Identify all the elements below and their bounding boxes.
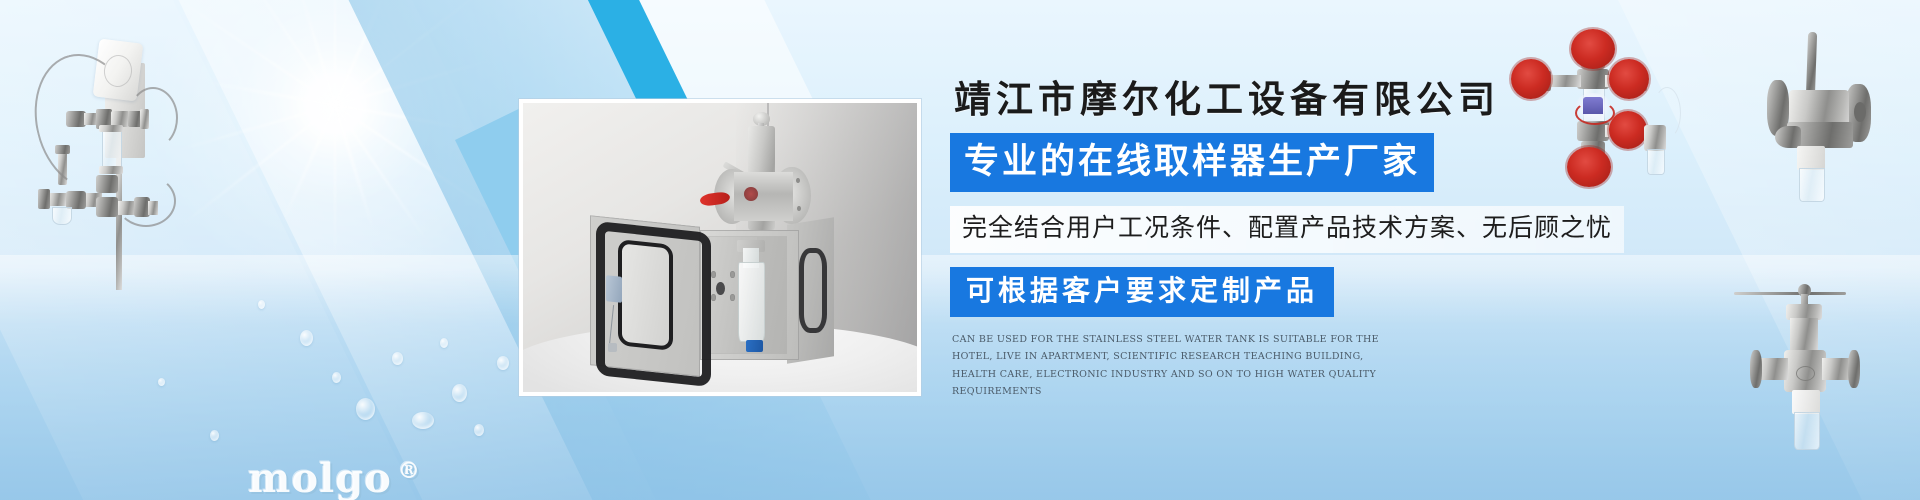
water-droplet-icon <box>332 372 341 383</box>
water-droplet-icon <box>258 300 265 309</box>
company-name: 靖江市摩尔化工设备有限公司 <box>954 78 1590 121</box>
water-droplet-icon <box>452 384 467 402</box>
promo-banner: 靖江市摩尔化工设备有限公司 专业的在线取样器生产厂家 完全结合用户工况条件、配置… <box>0 0 1920 500</box>
water-droplet-icon <box>158 378 165 386</box>
right-equipment-flanged-valve-image <box>1745 28 1905 228</box>
brand-emblem-icon <box>744 187 758 201</box>
water-droplet-icon <box>210 430 219 441</box>
registered-trademark-icon: ® <box>398 458 421 484</box>
left-equipment-image <box>10 25 185 290</box>
red-handwheel-icon <box>1609 111 1647 149</box>
water-droplet-icon <box>474 424 484 436</box>
water-droplet-icon <box>412 412 434 429</box>
subline-badge: 完全结合用户工况条件、配置产品技术方案、无后顾之忧 <box>950 206 1624 253</box>
water-droplet-icon <box>440 338 448 348</box>
water-droplet-icon <box>392 352 403 365</box>
brand-emblem-icon <box>1796 366 1815 381</box>
red-handwheel-icon <box>1609 59 1649 99</box>
headline-badge: 专业的在线取样器生产厂家 <box>950 133 1434 192</box>
sun-flare-icon <box>120 0 550 320</box>
tagline-badge: 可根据客户要求定制产品 <box>950 267 1334 317</box>
banner-text-block: 靖江市摩尔化工设备有限公司 专业的在线取样器生产厂家 完全结合用户工况条件、配置… <box>950 78 1590 401</box>
watermark-logo: molgo® <box>248 455 421 500</box>
product-photo <box>519 99 921 396</box>
watermark-text: molgo <box>248 455 392 500</box>
water-droplet-icon <box>356 398 375 420</box>
red-handwheel-icon <box>1571 29 1615 69</box>
background-stripe <box>0 0 422 500</box>
water-droplet-icon <box>300 330 313 346</box>
right-equipment-vertical-valve-image <box>1748 272 1898 494</box>
english-description: CAN BE USED FOR THE STAINLESS STEEL WATE… <box>952 331 1397 401</box>
water-droplet-icon <box>497 356 509 370</box>
